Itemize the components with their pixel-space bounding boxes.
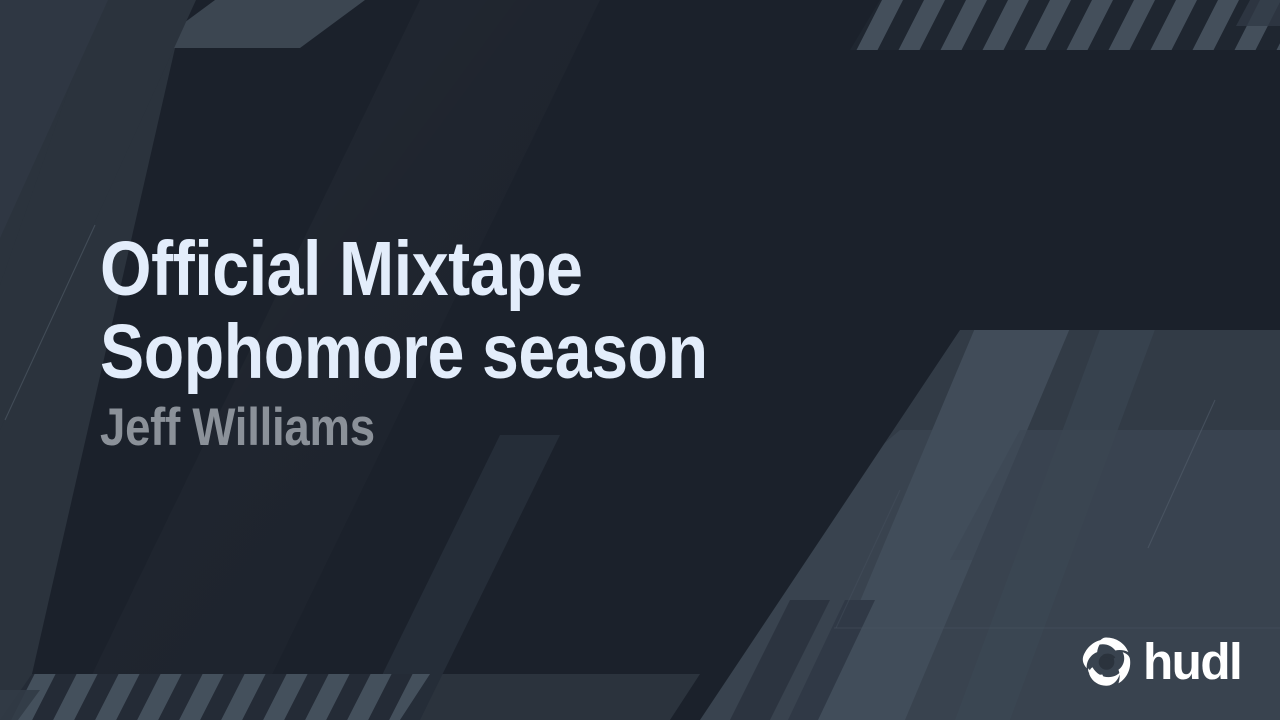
- athlete-name: Jeff Williams: [100, 400, 754, 456]
- hudl-logo-lockup: hudl: [1080, 636, 1244, 688]
- hudl-wordmark: hudl: [1143, 637, 1241, 687]
- headline-block: Official Mixtape Sophomore season Jeff W…: [100, 228, 860, 456]
- title-line-2: Sophomore season: [100, 311, 754, 394]
- title-card: Official Mixtape Sophomore season Jeff W…: [0, 0, 1280, 720]
- title-line-1: Official Mixtape: [100, 228, 754, 311]
- hudl-triskelion-icon: [1080, 636, 1132, 688]
